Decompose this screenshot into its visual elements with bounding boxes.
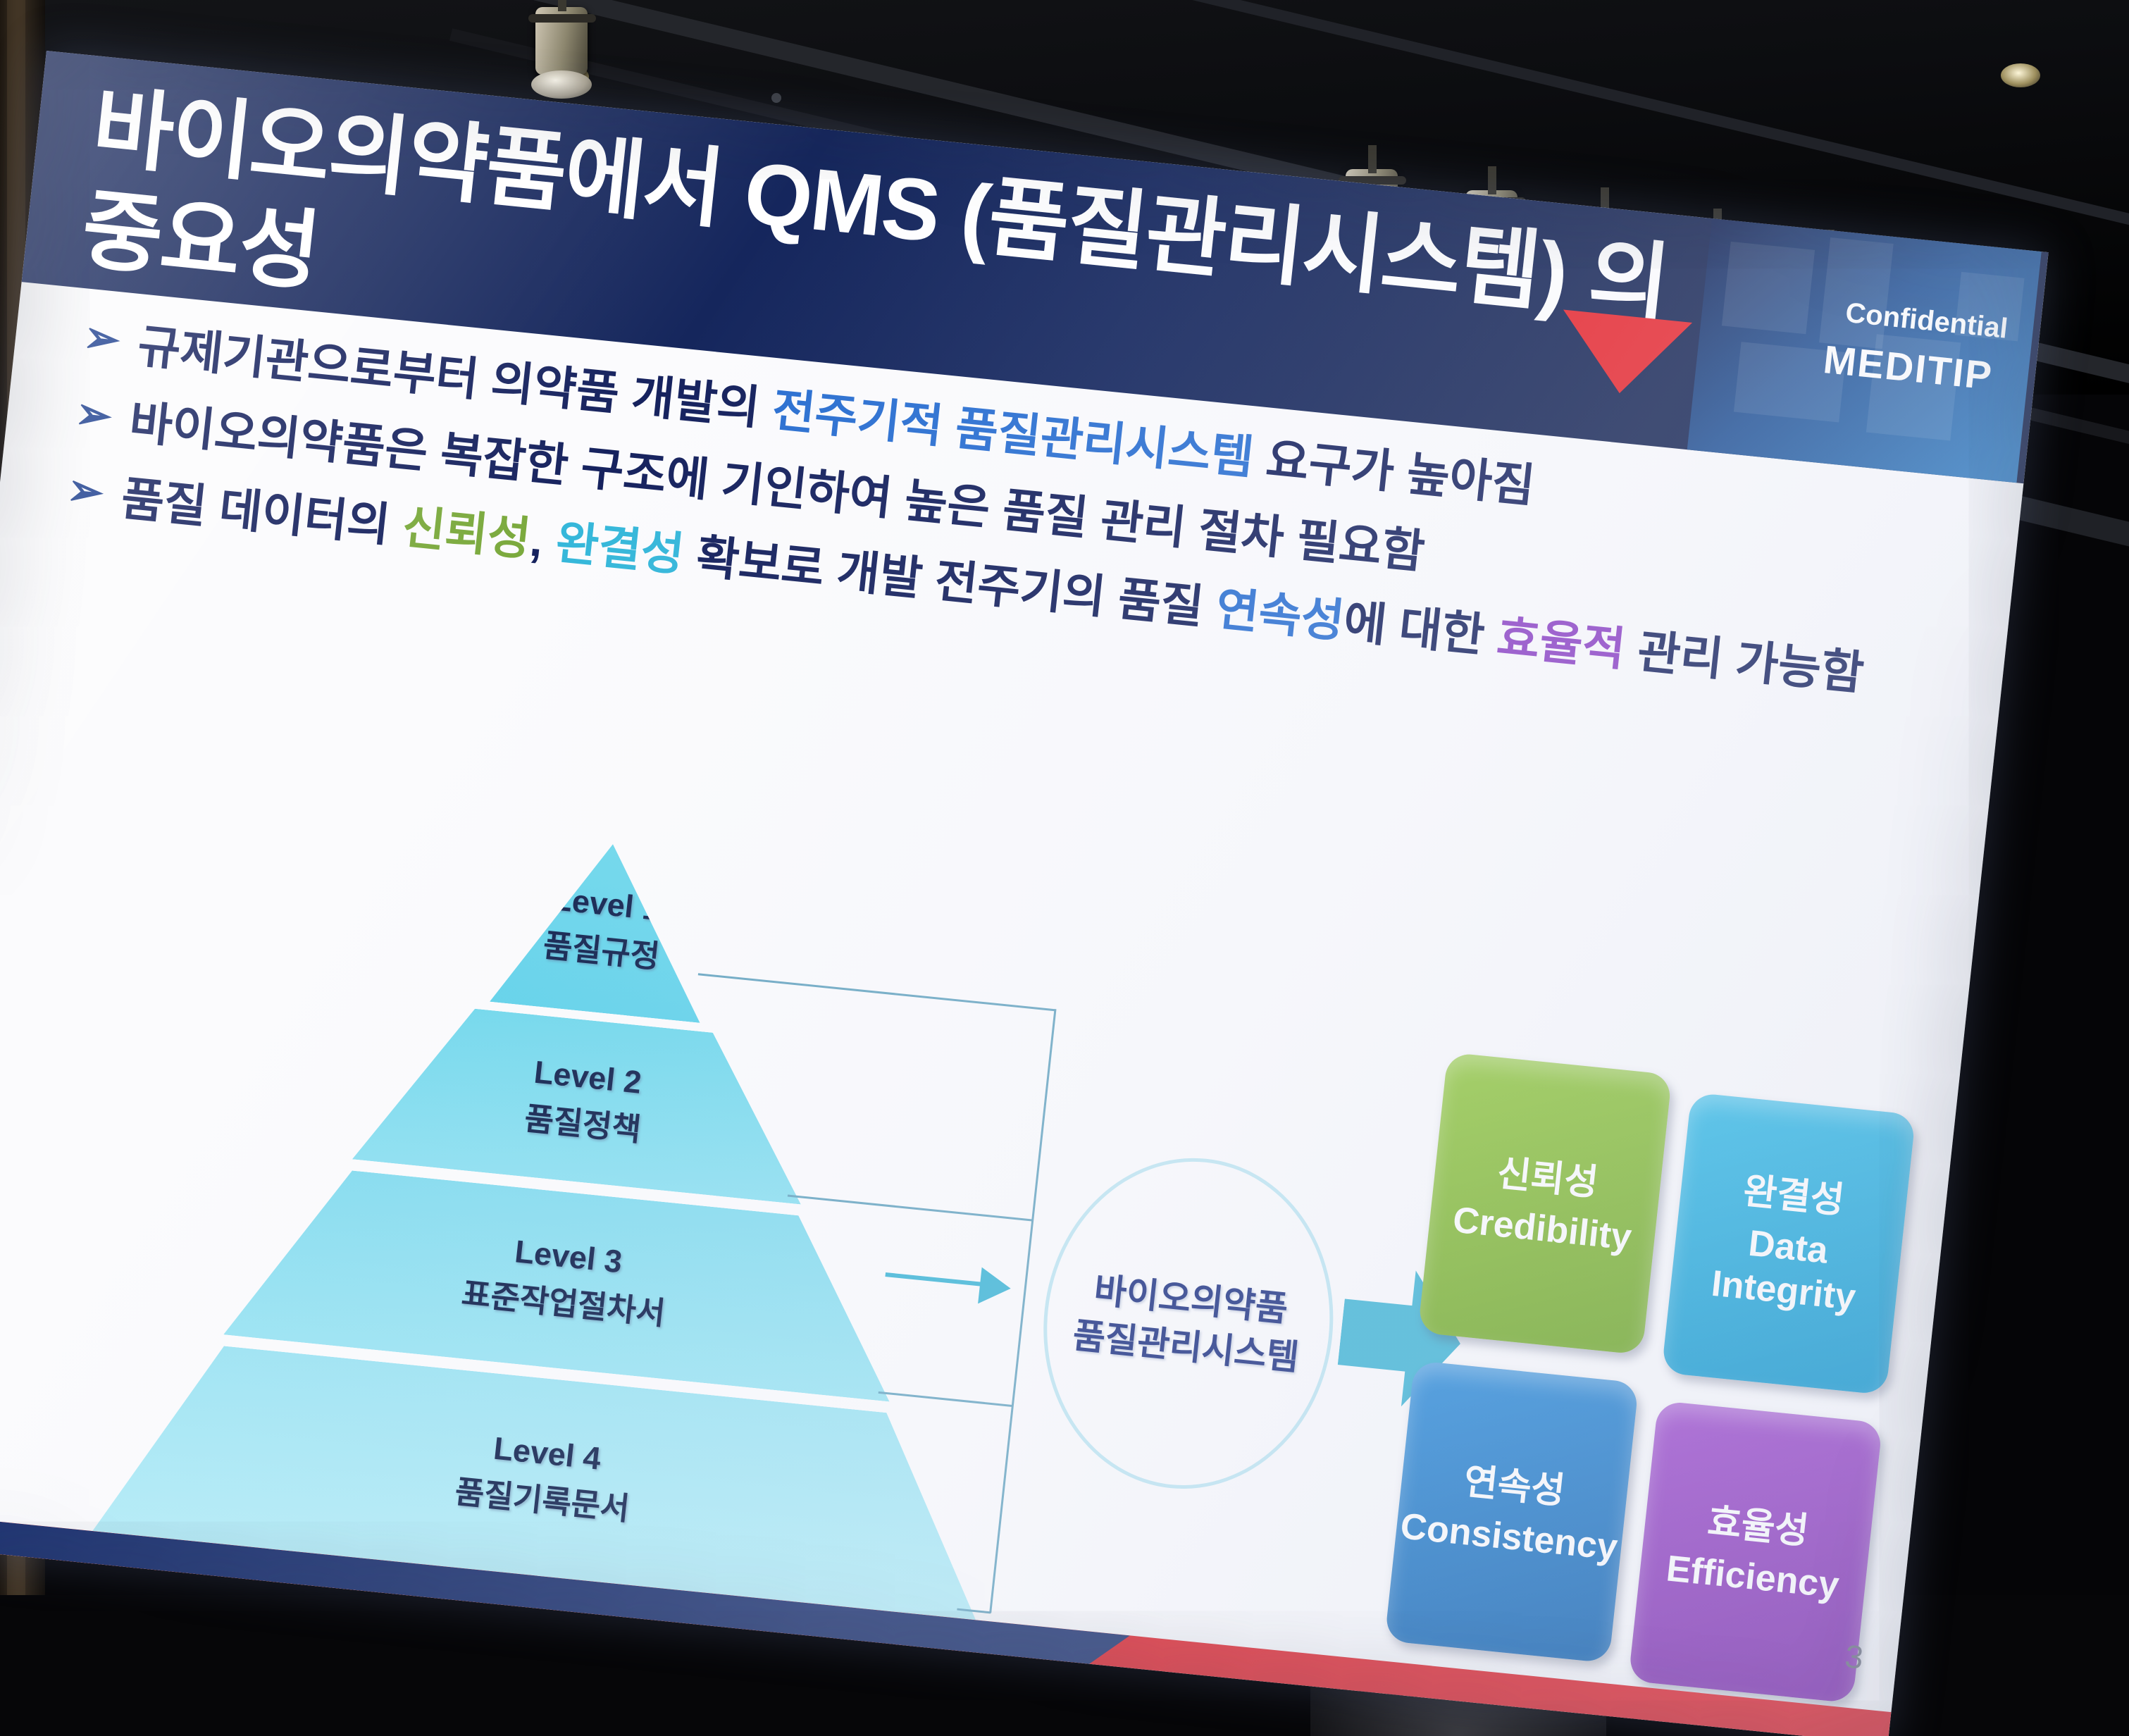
quality-pyramid: Level 1 품질규정 Level 2 품질정책 Level 3 표준작업절차… xyxy=(66,798,1075,1668)
connector-line xyxy=(698,973,1056,1011)
chevron-right-icon: ➢ xyxy=(65,468,106,515)
chevron-right-icon: ➢ xyxy=(73,392,114,439)
brand-logo-panel: Confidential MEDITIP xyxy=(1687,218,2042,483)
center-circle: 바이오의약품 품질관리시스템 xyxy=(1027,1144,1350,1502)
chevron-right-icon: ➢ xyxy=(81,316,122,363)
outcome-box-credibility: 신뢰성 Credibility xyxy=(1417,1052,1672,1355)
outcome-boxes: 신뢰성 Credibility 완결성 Data Integrity 연속성 C… xyxy=(1382,1052,1932,1710)
outcome-box-consistency: 연속성 Consistency xyxy=(1384,1360,1639,1663)
brand-name: MEDITIP xyxy=(1821,336,1995,399)
connector-line xyxy=(788,1195,1034,1222)
auditorium-room: 바이오의약품에서 QMS (품질관리시스템) 의 중요성 Confidentia… xyxy=(0,0,2129,1736)
pyramid-level-1: Level 1 품질규정 xyxy=(490,833,718,1023)
connector-line xyxy=(879,1391,1013,1407)
stage-spotlight xyxy=(535,7,592,99)
recessed-light xyxy=(2001,63,2040,87)
pyramid-level-2: Level 2 품질정책 xyxy=(352,998,818,1205)
arrow-right-icon xyxy=(978,1267,1012,1307)
red-triangle-accent xyxy=(1555,310,1692,400)
projection-screen: 바이오의약품에서 QMS (품질관리시스템) 의 중요성 Confidentia… xyxy=(0,51,2073,1736)
ceiling-led-chip xyxy=(771,93,781,103)
outcome-box-data-integrity: 완결성 Data Integrity xyxy=(1661,1092,1916,1395)
